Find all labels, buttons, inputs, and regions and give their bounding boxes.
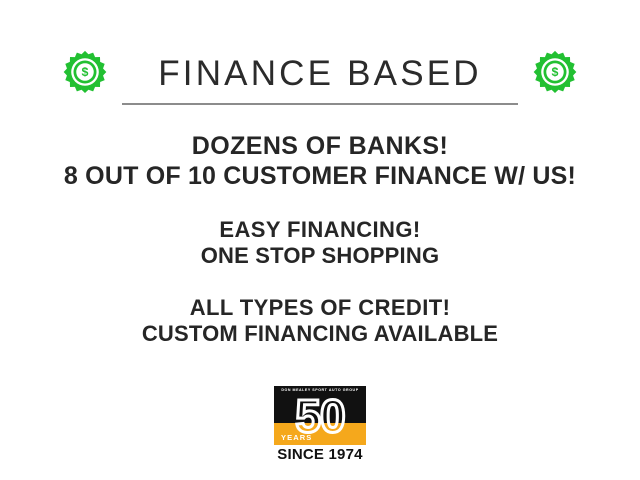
copy-section: EASY FINANCING! ONE STOP SHOPPING — [0, 217, 640, 269]
copy-normal-line: ONE STOP SHOPPING — [0, 243, 640, 269]
dealer-logo: DON MEALEY SPORT AUTO GROUP 50 YEARS SIN… — [274, 386, 366, 464]
copy-section: DOZENS OF BANKS! 8 OUT OF 10 CUSTOMER FI… — [0, 132, 640, 191]
finance-based-slide: FINANCE BASED $ $ DOZENS OF BANKS — [0, 0, 640, 480]
copy-heavy-line: DOZENS OF BANKS! — [0, 132, 640, 162]
body-copy: DOZENS OF BANKS! 8 OUT OF 10 CUSTOMER FI… — [0, 132, 640, 347]
since-label: SINCE 1974 — [274, 447, 366, 464]
money-gear-icon: $ — [62, 50, 108, 96]
title-divider — [122, 103, 518, 105]
svg-text:$: $ — [82, 65, 89, 79]
anniversary-years-label: YEARS — [281, 434, 312, 442]
copy-section: ALL TYPES OF CREDIT! CUSTOM FINANCING AV… — [0, 295, 640, 347]
anniversary-badge: DON MEALEY SPORT AUTO GROUP 50 YEARS — [274, 386, 366, 445]
money-gear-icon: $ — [532, 50, 578, 96]
copy-heavy-line: ALL TYPES OF CREDIT! — [0, 295, 640, 321]
page-title: FINANCE BASED — [158, 56, 482, 91]
copy-normal-line: CUSTOM FINANCING AVAILABLE — [0, 321, 640, 347]
svg-text:$: $ — [552, 65, 559, 79]
copy-normal-line: 8 OUT OF 10 CUSTOMER FINANCE W/ US! — [0, 162, 640, 192]
copy-heavy-line: EASY FINANCING! — [0, 217, 640, 243]
